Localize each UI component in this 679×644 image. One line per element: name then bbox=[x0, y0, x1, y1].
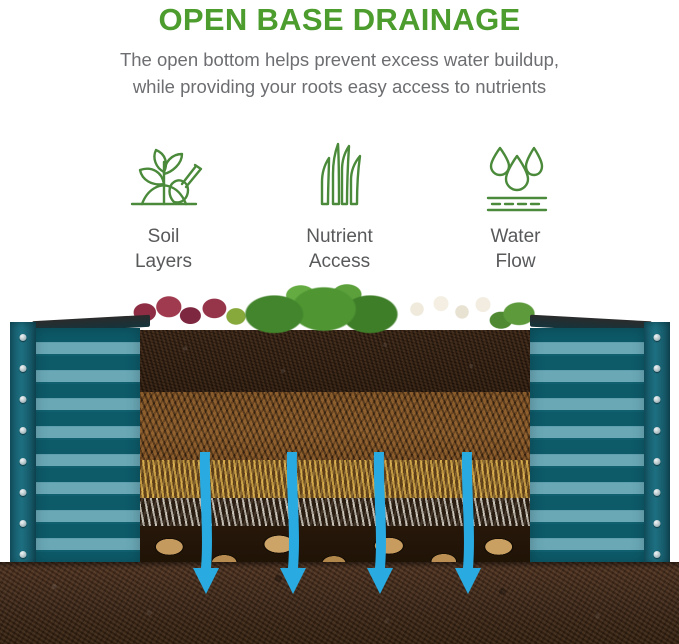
seedling-trowel-icon bbox=[76, 138, 252, 216]
feature-nutrient-access: Nutrient Access bbox=[252, 138, 428, 274]
infographic-page: OPEN BASE DRAINAGE The open bottom helps… bbox=[0, 0, 679, 644]
screw-icon bbox=[654, 396, 661, 403]
screw-icon bbox=[20, 396, 27, 403]
feature-label-line-2: Flow bbox=[428, 249, 604, 274]
screw-icon bbox=[654, 551, 661, 558]
subtitle-line-1: The open bottom helps prevent excess wat… bbox=[0, 46, 679, 73]
grass-blades-icon bbox=[252, 138, 428, 216]
corrugated-metal-right bbox=[530, 328, 646, 564]
page-title: OPEN BASE DRAINAGE bbox=[0, 2, 679, 38]
screw-icon bbox=[20, 365, 27, 372]
page-subtitle: The open bottom helps prevent excess wat… bbox=[0, 46, 679, 100]
water-droplets-icon bbox=[428, 138, 604, 216]
feature-soil-layers-label: Soil Layers bbox=[76, 224, 252, 274]
corner-post-left bbox=[10, 322, 36, 564]
feature-water-flow-label: Water Flow bbox=[428, 224, 604, 274]
feature-nutrient-access-label: Nutrient Access bbox=[252, 224, 428, 274]
feature-label-line-1: Nutrient bbox=[252, 224, 428, 249]
screw-icon bbox=[20, 489, 27, 496]
plant-row bbox=[128, 282, 540, 334]
screw-icon bbox=[654, 427, 661, 434]
feature-label-line-1: Water bbox=[428, 224, 604, 249]
bed-panel-right bbox=[530, 328, 670, 564]
screw-icon bbox=[654, 520, 661, 527]
screw-icon bbox=[20, 458, 27, 465]
subtitle-line-2: while providing your roots easy access t… bbox=[0, 73, 679, 100]
screw-icon bbox=[20, 427, 27, 434]
plant-cauliflower bbox=[390, 288, 540, 334]
corrugated-metal-left bbox=[34, 328, 140, 564]
plant-green-cabbage bbox=[238, 282, 403, 334]
bed-panel-left bbox=[10, 328, 140, 564]
screw-icon bbox=[654, 458, 661, 465]
screw-icon bbox=[20, 334, 27, 341]
screw-icon bbox=[20, 551, 27, 558]
feature-list: Soil Layers Nutrient Acces bbox=[0, 138, 679, 278]
soil-cross-section bbox=[138, 330, 530, 562]
corner-post-right bbox=[644, 322, 670, 564]
screw-icon bbox=[654, 334, 661, 341]
feature-label-line-2: Access bbox=[252, 249, 428, 274]
screw-icon bbox=[20, 520, 27, 527]
ground-soil bbox=[0, 562, 679, 644]
header: OPEN BASE DRAINAGE The open bottom helps… bbox=[0, 0, 679, 100]
screw-icon bbox=[654, 365, 661, 372]
feature-label-line-2: Layers bbox=[76, 249, 252, 274]
feature-water-flow: Water Flow bbox=[428, 138, 604, 274]
soil-layer-dark-compost-topsoil bbox=[138, 330, 530, 392]
feature-soil-layers: Soil Layers bbox=[76, 138, 252, 274]
feature-label-line-1: Soil bbox=[76, 224, 252, 249]
soil-layer-shredded-bark-mulch bbox=[138, 392, 530, 460]
soil-layer-wood-chunks bbox=[138, 526, 530, 562]
screw-icon bbox=[654, 489, 661, 496]
raised-garden-bed-illustration bbox=[0, 282, 679, 644]
